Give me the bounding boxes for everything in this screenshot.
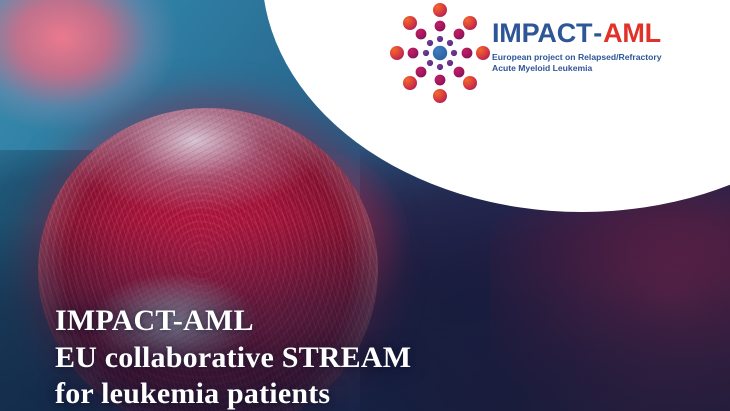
headline-line-3: for leukemia patients: [55, 376, 411, 411]
banner-headline: IMPACT-AML EU collaborative STREAM for l…: [55, 303, 411, 411]
headline-line-2: EU collaborative STREAM: [55, 340, 411, 377]
logo-wordmark-impact: IMPACT: [492, 18, 592, 48]
headline-line-1: IMPACT-AML: [55, 303, 411, 340]
logo-tagline-line-2: Acute Myeloid Leukemia: [492, 63, 680, 74]
logo-wordmark-aml: AML: [603, 18, 661, 48]
logo-tagline: European project on Relapsed/Refractory …: [492, 52, 680, 75]
impact-aml-logo[interactable]: IMPACT-AML European project on Relapsed/…: [390, 3, 680, 107]
logo-text-lockup: IMPACT-AML European project on Relapsed/…: [492, 20, 680, 75]
logo-wordmark-separator: -: [592, 18, 603, 48]
impact-aml-radial-dot-mark-icon: [390, 3, 490, 103]
impact-aml-banner: IMPACT-AML European project on Relapsed/…: [0, 0, 730, 411]
logo-wordmark: IMPACT-AML: [492, 20, 680, 47]
logo-tagline-line-1: European project on Relapsed/Refractory: [492, 52, 680, 63]
